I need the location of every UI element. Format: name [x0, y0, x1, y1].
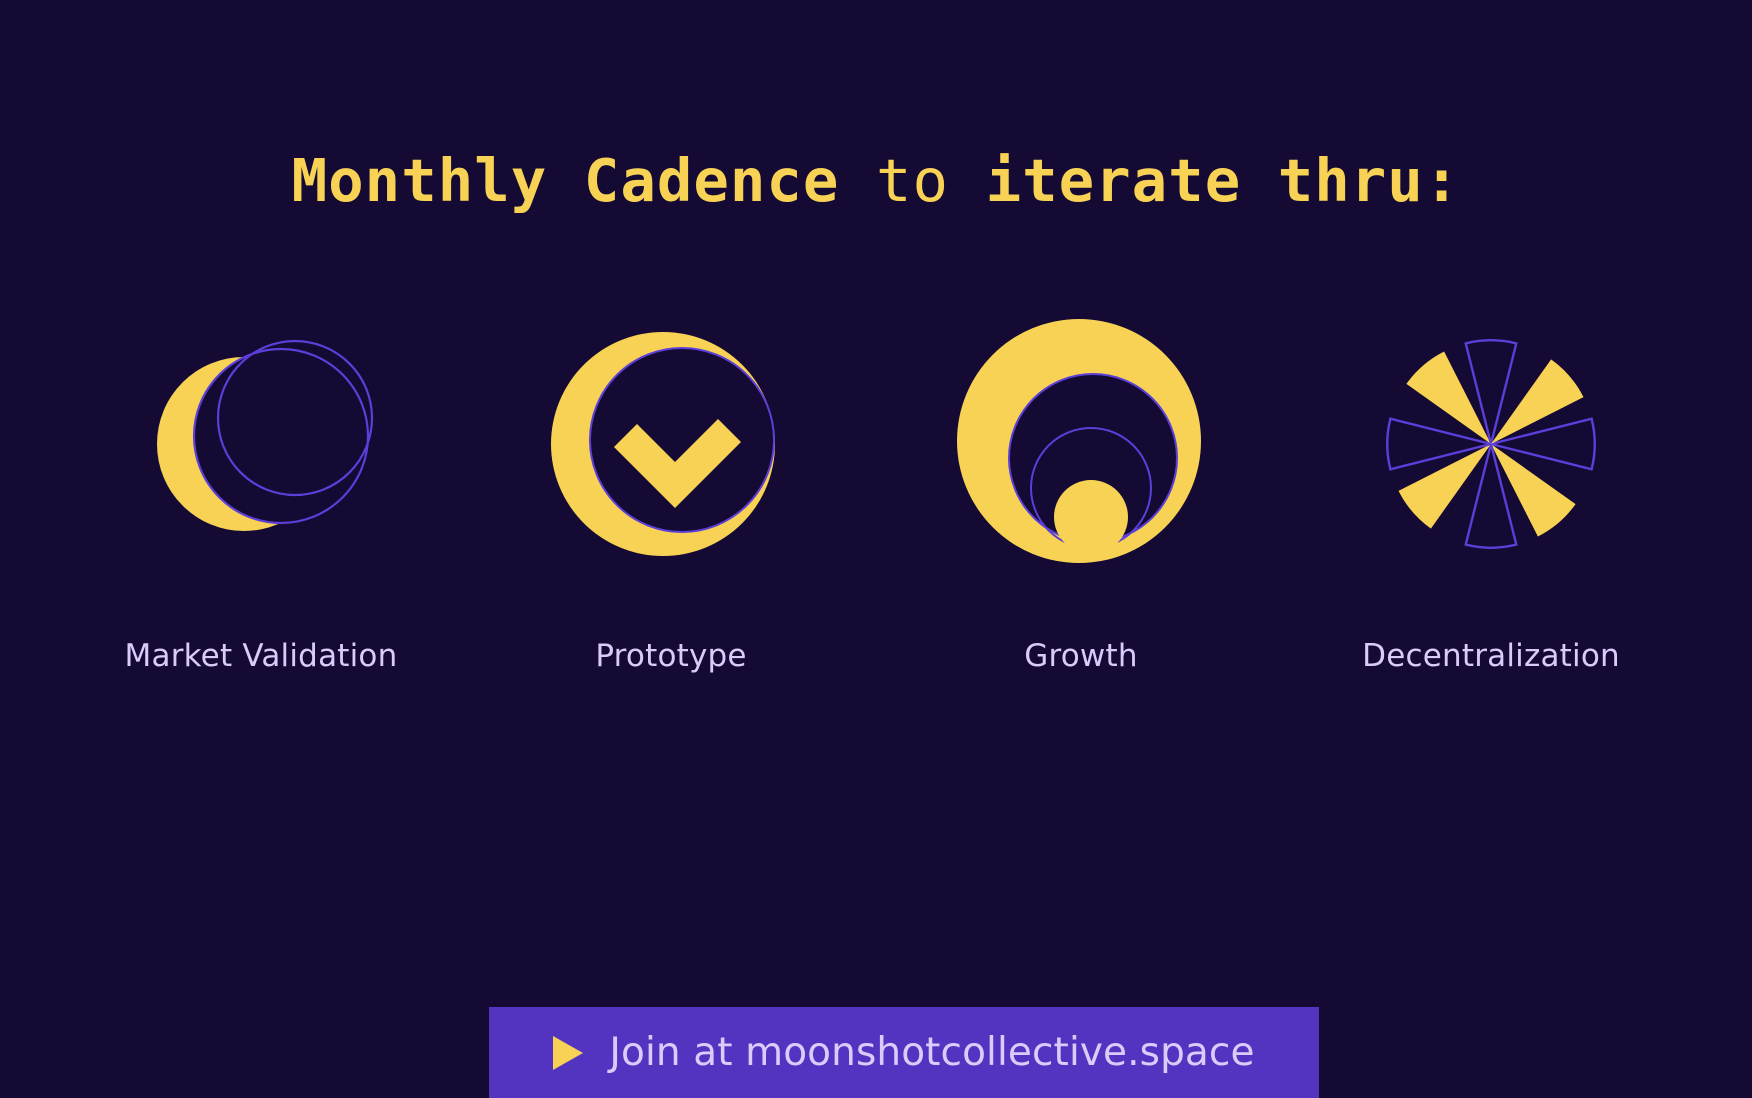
join-cta-button[interactable]: Join at moonshotcollective.space [489, 1007, 1319, 1098]
segmented-pie-wedges-icon [1365, 318, 1617, 570]
title-part-1: Monthly Cadence [292, 146, 840, 215]
stage-item-growth[interactable]: Growth [916, 318, 1246, 674]
title-part-2: to [876, 146, 949, 215]
play-triangle-icon [553, 1036, 583, 1070]
stage-label: Market Validation [125, 638, 398, 674]
concentric-circles-with-dot-icon [955, 318, 1207, 570]
stage-item-decentralization[interactable]: Decentralization [1326, 318, 1656, 674]
crescent-moon-with-orbit-circles-icon [135, 318, 387, 570]
title-part-3: iterate thru: [986, 146, 1461, 215]
stage-row: Market Validation Pr [96, 318, 1656, 674]
stage-item-prototype[interactable]: Prototype [506, 318, 836, 674]
stage-label: Growth [1024, 638, 1137, 674]
stage-label: Decentralization [1362, 638, 1620, 674]
stage-item-market-validation[interactable]: Market Validation [96, 318, 426, 674]
page-title: Monthly Cadence to iterate thru: [0, 150, 1752, 213]
stage-label: Prototype [595, 638, 746, 674]
slide-root: Monthly Cadence to iterate thru: [0, 0, 1752, 1098]
crescent-ring-with-checkmark-icon [545, 318, 797, 570]
join-cta-label: Join at moonshotcollective.space [609, 1030, 1254, 1075]
